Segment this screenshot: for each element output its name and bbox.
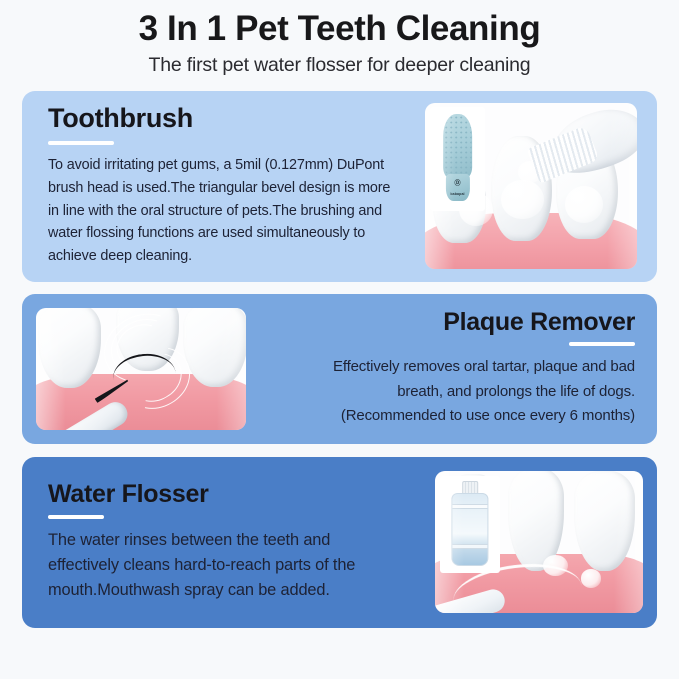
toothbrush-text-block: Toothbrush To avoid irritating pet gums,… bbox=[48, 104, 425, 267]
tooth-shape bbox=[183, 308, 246, 387]
toothbrush-title-rule bbox=[48, 141, 114, 145]
water-flosser-body: The water rinses between the teeth and e… bbox=[48, 528, 378, 603]
page-header: 3 In 1 Pet Teeth Cleaning The first pet … bbox=[0, 0, 679, 78]
brand-label: babapal bbox=[450, 192, 464, 196]
tooth-shape bbox=[574, 471, 634, 570]
page-title: 3 In 1 Pet Teeth Cleaning bbox=[0, 9, 679, 49]
plaque-remover-body-line: breath, and prolongs the life of dogs. bbox=[246, 380, 635, 404]
plaque-remover-body-line: Effectively removes oral tartar, plaque … bbox=[246, 355, 635, 379]
finger-brush-inset: Ⓓ babapal bbox=[430, 107, 485, 211]
feature-card-list: Toothbrush To avoid irritating pet gums,… bbox=[0, 91, 679, 628]
plaque-remover-title-rule bbox=[569, 342, 635, 346]
foam-icon bbox=[565, 186, 603, 223]
feature-card-plaque-remover: Plaque Remover Effectively removes oral … bbox=[22, 294, 657, 444]
foam-icon bbox=[501, 180, 543, 220]
plaque-remover-title: Plaque Remover bbox=[246, 309, 635, 337]
brand-mark-icon: Ⓓ bbox=[454, 178, 460, 187]
bottle-band-icon bbox=[452, 504, 487, 509]
water-flosser-title-rule bbox=[48, 515, 104, 519]
page-subtitle: The first pet water flosser for deeper c… bbox=[0, 54, 679, 77]
feature-card-toothbrush: Toothbrush To avoid irritating pet gums,… bbox=[22, 91, 657, 282]
toothbrush-title: Toothbrush bbox=[48, 104, 425, 134]
plaque-remover-body: Effectively removes oral tartar, plaque … bbox=[246, 355, 635, 428]
water-flosser-image bbox=[435, 471, 643, 613]
plaque-remover-text-block: Plaque Remover Effectively removes oral … bbox=[246, 309, 635, 428]
water-flosser-title: Water Flosser bbox=[48, 481, 435, 509]
mouthwash-bottle-inset bbox=[440, 476, 500, 573]
feature-card-water-flosser: Water Flosser The water rinses between t… bbox=[22, 457, 657, 628]
water-spray-icon bbox=[581, 569, 602, 587]
water-flosser-text-block: Water Flosser The water rinses between t… bbox=[48, 481, 435, 603]
bottle-icon bbox=[451, 493, 488, 567]
toothbrush-body: To avoid irritating pet gums, a 5mil (0.… bbox=[48, 154, 400, 268]
plaque-remover-body-line: (Recommended to use once every 6 months) bbox=[246, 404, 635, 428]
plaque-remover-image bbox=[36, 308, 246, 430]
bottle-band-icon bbox=[452, 544, 487, 549]
finger-brush-bristle-dots-icon bbox=[443, 115, 472, 175]
toothbrush-image: Ⓓ babapal bbox=[425, 103, 637, 269]
